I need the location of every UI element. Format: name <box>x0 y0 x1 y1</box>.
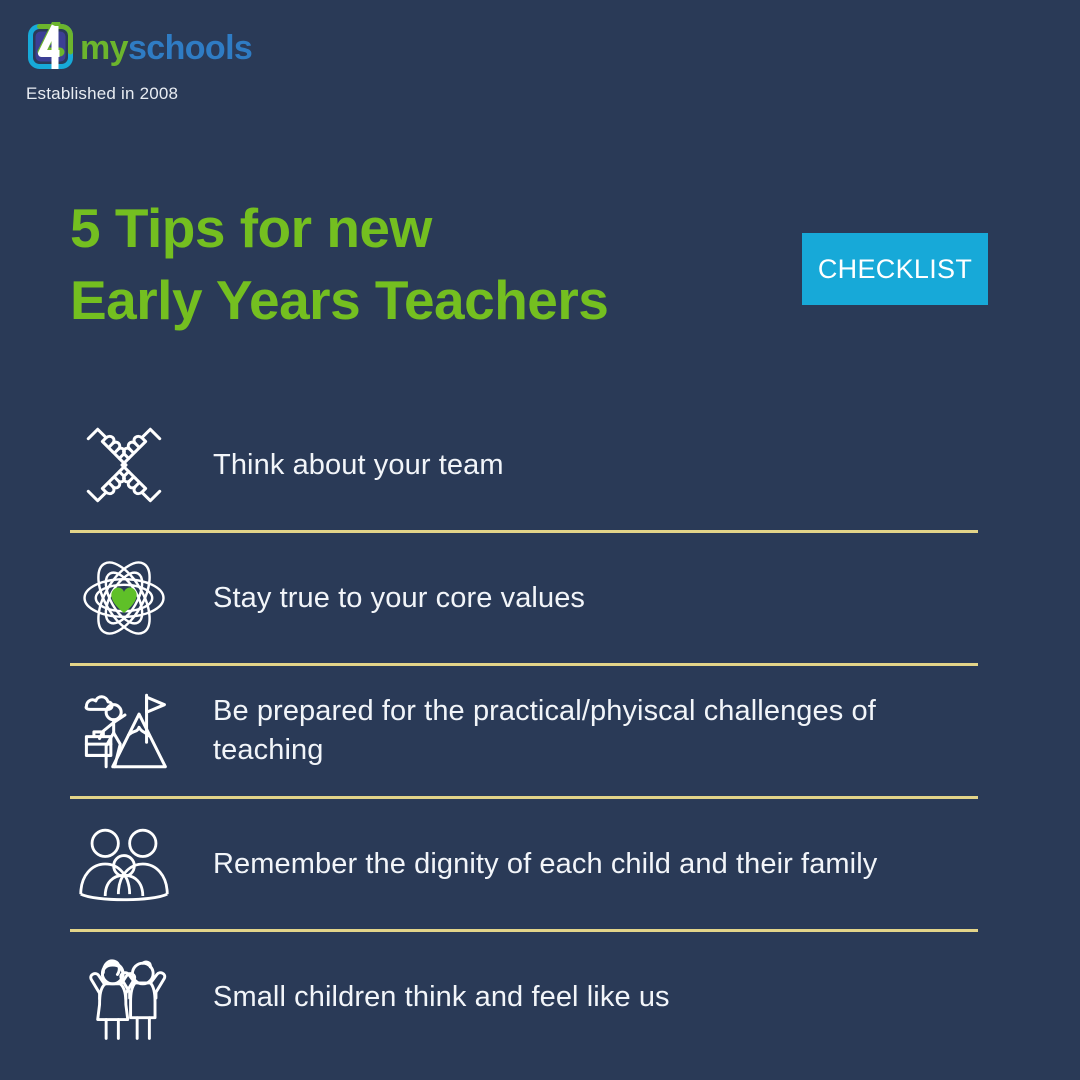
checklist-badge: CHECKLIST <box>802 233 988 305</box>
brand-wordmark: myschools <box>80 22 252 74</box>
list-item: Think about your team <box>70 400 980 530</box>
teamwork-hands-icon <box>70 413 178 517</box>
tips-list: Think about your team Stay tru <box>70 400 980 1062</box>
list-item-label: Be prepared for the practical/phyiscal c… <box>178 692 980 769</box>
brand-logo-row: myschools <box>26 22 446 74</box>
list-item: Remember the dignity of each child and t… <box>70 799 980 929</box>
checklist-badge-label: CHECKLIST <box>818 254 972 285</box>
list-item-label: Think about your team <box>178 446 514 485</box>
brand-wordmark-schools: schools <box>128 29 252 67</box>
4myschools-logo-icon <box>26 22 78 74</box>
brand-header: myschools Established in 2008 <box>26 22 446 104</box>
poster-canvas: myschools Established in 2008 5 Tips for… <box>0 0 1080 1080</box>
list-item: Be prepared for the practical/phyiscal c… <box>70 666 980 796</box>
family-group-icon <box>70 812 178 916</box>
atom-heart-icon <box>70 546 178 650</box>
list-item-label: Stay true to your core values <box>178 579 595 618</box>
two-children-celebrating-icon <box>70 945 178 1049</box>
page-title-block: 5 Tips for new Early Years Teachers <box>70 192 760 336</box>
list-item-label: Remember the dignity of each child and t… <box>178 845 887 884</box>
mountain-climber-flag-icon <box>70 679 178 783</box>
brand-wordmark-my: my <box>80 29 128 67</box>
list-item: Small children think and feel like us <box>70 932 980 1062</box>
list-item-label: Small children think and feel like us <box>178 978 680 1017</box>
list-item: Stay true to your core values <box>70 533 980 663</box>
page-title: 5 Tips for new Early Years Teachers <box>70 192 760 336</box>
established-text: Established in 2008 <box>26 84 446 104</box>
